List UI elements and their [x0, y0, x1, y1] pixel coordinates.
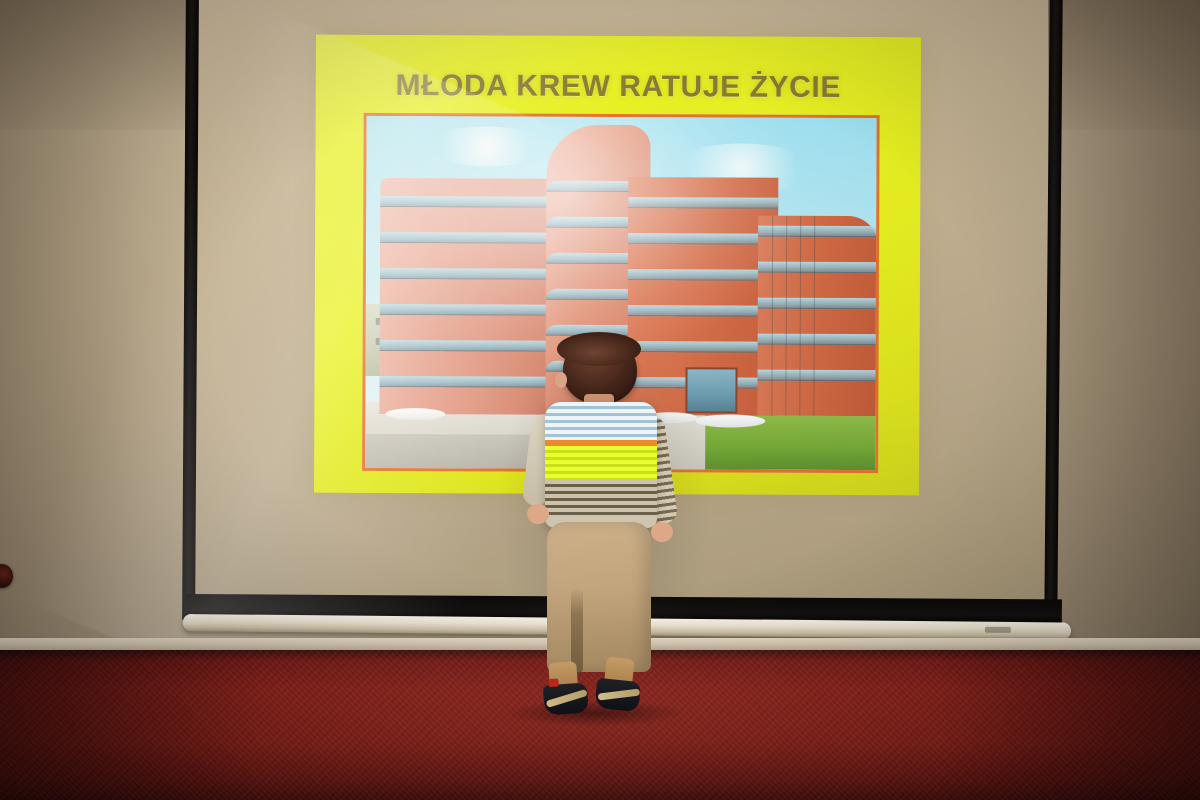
child-ear: [555, 372, 567, 388]
child-striped-sweater: [545, 402, 657, 528]
child-left-boot: [541, 661, 589, 716]
slide-title: MŁODA KREW RATUJE ŻYCIE: [316, 69, 921, 106]
child-hair: [557, 332, 641, 366]
child-figure: [505, 336, 695, 726]
child-right-boot: [594, 656, 643, 712]
child-left-hand: [527, 504, 549, 524]
cloud: [426, 126, 546, 167]
building-right-wing: [757, 216, 878, 417]
child-pants: [547, 522, 651, 672]
sweater-stripe-neon-yellow: [545, 446, 657, 480]
screen-bar-label: [985, 627, 1011, 633]
screen-bar-cap-left: [183, 614, 199, 631]
snow-patch: [385, 408, 445, 420]
snow-patch: [695, 414, 765, 427]
wall-left-shading: [0, 0, 200, 652]
projection-room-scene: MŁODA KREW RATUJE ŻYCIE: [0, 0, 1200, 800]
child-right-hand: [651, 522, 673, 542]
sweater-stripe-blue: [545, 402, 657, 440]
screen-bar-cap-right: [1055, 622, 1071, 639]
boot-tab: [548, 678, 559, 687]
